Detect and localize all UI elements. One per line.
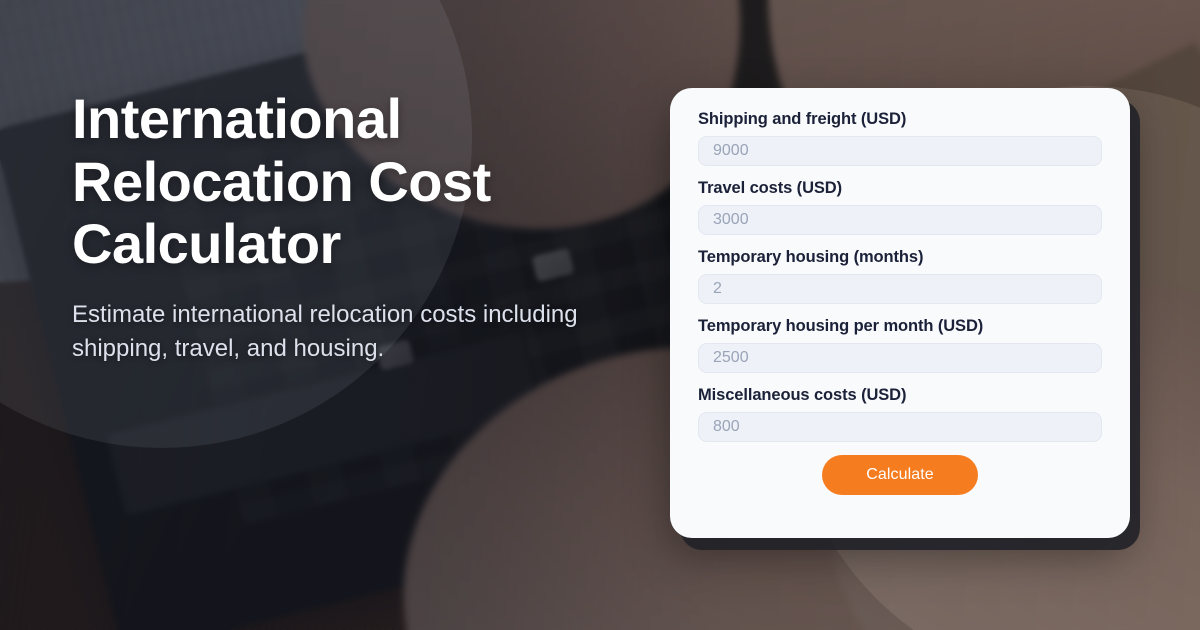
hero-section: International Relocation Cost Calculator… bbox=[72, 88, 632, 366]
label-travel-costs: Travel costs (USD) bbox=[698, 179, 1102, 198]
form-field-temporary-housing-months: Temporary housing (months) bbox=[698, 248, 1102, 304]
label-temporary-housing-months: Temporary housing (months) bbox=[698, 248, 1102, 267]
calculate-button[interactable]: Calculate bbox=[822, 455, 978, 495]
form-field-shipping-and-freight: Shipping and freight (USD) bbox=[698, 110, 1102, 166]
page-subtitle: Estimate international relocation costs … bbox=[72, 298, 617, 366]
page-title: International Relocation Cost Calculator bbox=[72, 88, 632, 276]
input-miscellaneous-costs[interactable] bbox=[698, 412, 1102, 442]
label-temporary-housing-per-month: Temporary housing per month (USD) bbox=[698, 317, 1102, 336]
page-content: International Relocation Cost Calculator… bbox=[0, 0, 1200, 630]
label-shipping-and-freight: Shipping and freight (USD) bbox=[698, 110, 1102, 129]
input-travel-costs[interactable] bbox=[698, 205, 1102, 235]
input-temporary-housing-per-month[interactable] bbox=[698, 343, 1102, 373]
form-field-travel-costs: Travel costs (USD) bbox=[698, 179, 1102, 235]
label-miscellaneous-costs: Miscellaneous costs (USD) bbox=[698, 386, 1102, 405]
form-actions: Calculate bbox=[698, 455, 1102, 517]
form-field-miscellaneous-costs: Miscellaneous costs (USD) bbox=[698, 386, 1102, 442]
page-stage: International Relocation Cost Calculator… bbox=[0, 0, 1200, 630]
input-temporary-housing-months[interactable] bbox=[698, 274, 1102, 304]
form-field-temporary-housing-per-month: Temporary housing per month (USD) bbox=[698, 317, 1102, 373]
input-shipping-and-freight[interactable] bbox=[698, 136, 1102, 166]
calculator-form-card: Shipping and freight (USD) Travel costs … bbox=[670, 88, 1130, 538]
